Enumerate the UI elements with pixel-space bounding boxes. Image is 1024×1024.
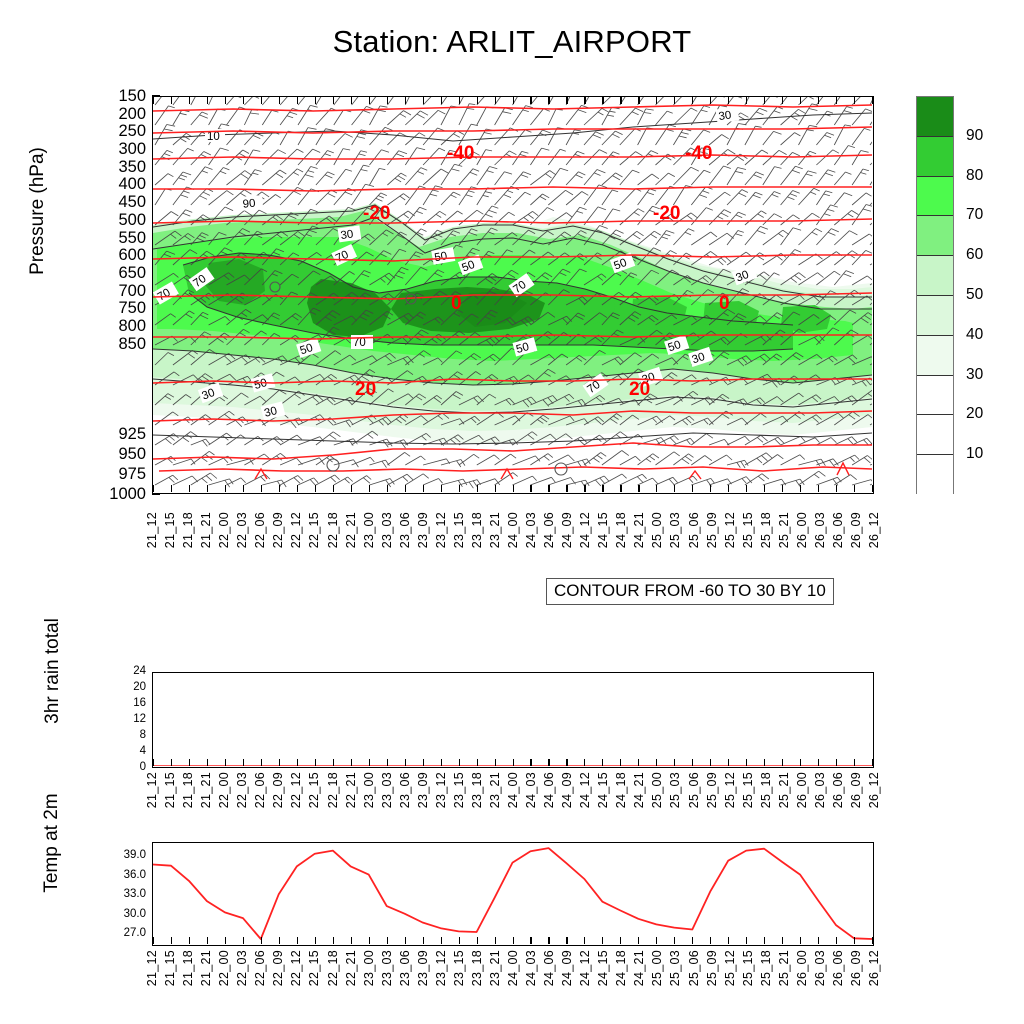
rain-time-tick-25_15: 25_15 xyxy=(741,772,755,808)
rain-time-tick-24_21: 24_21 xyxy=(632,772,646,808)
main-time-tick-24_03: 24_03 xyxy=(524,512,538,548)
rain-tick-4: 4 xyxy=(100,745,146,757)
temp-time-tick-26_09: 26_09 xyxy=(849,950,863,986)
pressure-tick-200: 200 xyxy=(86,105,146,124)
contour-note: CONTOUR FROM -60 TO 30 BY 10 xyxy=(546,578,834,605)
temp-x-tickmark xyxy=(836,937,837,944)
temp-x-tickmark xyxy=(477,937,478,944)
temp-time-tick-21_18: 21_18 xyxy=(181,950,195,986)
temp-tick-36.0: 36.0 xyxy=(96,869,146,881)
rain-x-tickmark xyxy=(495,759,496,766)
colorbar-tick-30: 30 xyxy=(966,366,983,384)
rain-x-tickmark xyxy=(279,759,280,766)
main-time-tick-26_09: 26_09 xyxy=(849,512,863,548)
pressure-tick-550: 550 xyxy=(86,229,146,248)
main-x-tickmark-top xyxy=(297,97,298,104)
colorbar-band-3 xyxy=(917,216,953,256)
svg-text:-20: -20 xyxy=(653,203,680,224)
pressure-tick-700: 700 xyxy=(86,282,146,301)
rain-x-tickmark xyxy=(189,759,190,766)
pressure-tick-500: 500 xyxy=(86,211,146,230)
main-time-tick-24_06: 24_06 xyxy=(542,512,556,548)
colorbar-tick-50: 50 xyxy=(966,286,983,304)
temp-x-tickmark xyxy=(333,937,334,944)
rain-x-tickmark xyxy=(728,759,729,766)
main-time-tick-23_09: 23_09 xyxy=(416,512,430,548)
main-x-tickmark-top xyxy=(710,97,711,104)
temp-time-tick-26_00: 26_00 xyxy=(795,950,809,986)
main-x-tickmark-top xyxy=(495,97,496,104)
main-time-tick-25_21: 25_21 xyxy=(777,512,791,548)
rain-x-tickmark xyxy=(207,759,208,766)
rain-x-tickmark xyxy=(818,759,819,766)
rain-x-tickmark xyxy=(584,759,585,766)
colorbar-band-6 xyxy=(917,336,953,376)
main-time-tick-23_03: 23_03 xyxy=(380,512,394,548)
rain-x-tickmark xyxy=(243,759,244,766)
main-x-tickmark-top xyxy=(782,97,783,104)
temp-time-tick-23_09: 23_09 xyxy=(416,950,430,986)
rain-time-tick-23_06: 23_06 xyxy=(398,772,412,808)
rain-x-tickmark xyxy=(171,759,172,766)
svg-text:20: 20 xyxy=(355,379,376,400)
main-x-tickmark-top xyxy=(279,97,280,104)
rain-time-tick-25_21: 25_21 xyxy=(777,772,791,808)
main-x-tickmark xyxy=(207,485,208,492)
temp-x-tickmark xyxy=(782,937,783,944)
temp-x-tickmark xyxy=(351,937,352,944)
svg-text:90: 90 xyxy=(242,198,256,211)
rain-plot xyxy=(153,673,872,766)
rain-time-tick-23_00: 23_00 xyxy=(362,772,376,808)
colorbar-band-9 xyxy=(917,455,953,495)
main-x-tickmark xyxy=(459,485,460,492)
rain-time-tick-23_21: 23_21 xyxy=(488,772,502,808)
main-x-tickmark xyxy=(872,485,873,492)
rain-x-tickmark xyxy=(746,759,747,766)
main-time-tick-24_18: 24_18 xyxy=(614,512,628,548)
main-x-tickmark xyxy=(566,485,567,492)
temp-x-tickmark xyxy=(315,937,316,944)
main-time-tick-24_12: 24_12 xyxy=(578,512,592,548)
colorbar-band-7 xyxy=(917,376,953,416)
temp-time-tick-24_06: 24_06 xyxy=(542,950,556,986)
temp-time-tick-26_03: 26_03 xyxy=(813,950,827,986)
main-time-tick-21_21: 21_21 xyxy=(199,512,213,548)
rain-time-tick-24_00: 24_00 xyxy=(506,772,520,808)
temp-time-tick-24_03: 24_03 xyxy=(524,950,538,986)
main-x-tickmark-top xyxy=(728,97,729,104)
rain-time-tick-21_21: 21_21 xyxy=(199,772,213,808)
sounding-cross-section-panel[interactable]: 10 30 50 70 70 70 70 70 70 50 50 50 50 5… xyxy=(152,96,874,494)
main-x-tickmark xyxy=(369,485,370,492)
main-time-tick-25_00: 25_00 xyxy=(650,512,664,548)
main-time-tick-25_18: 25_18 xyxy=(759,512,773,548)
colorbar-band-8 xyxy=(917,415,953,455)
pressure-tick-300: 300 xyxy=(86,140,146,159)
temp-time-tick-22_21: 22_21 xyxy=(344,950,358,986)
main-x-tickmark xyxy=(423,485,424,492)
pressure-tick-925: 925 xyxy=(86,425,146,444)
main-time-tick-22_21: 22_21 xyxy=(344,512,358,548)
rain-time-tick-23_15: 23_15 xyxy=(452,772,466,808)
main-x-tickmark xyxy=(548,485,549,492)
main-x-tickmark-top xyxy=(656,97,657,104)
main-time-tick-21_12: 21_12 xyxy=(145,512,159,548)
rain-x-tickmark xyxy=(782,759,783,766)
main-x-tickmark-top xyxy=(854,97,855,104)
colorbar-tick-60: 60 xyxy=(966,246,983,264)
temp-tick-27.0: 27.0 xyxy=(96,927,146,939)
main-x-tickmark xyxy=(153,485,154,492)
temp-x-tickmark xyxy=(225,937,226,944)
temp-x-tickmark xyxy=(405,937,406,944)
main-time-tick-22_00: 22_00 xyxy=(217,512,231,548)
svg-text:0: 0 xyxy=(451,293,462,314)
temp-time-tick-23_12: 23_12 xyxy=(434,950,448,986)
main-x-tickmark-top xyxy=(584,97,585,104)
colorbar-band-0 xyxy=(917,97,953,137)
rain-time-tick-23_09: 23_09 xyxy=(416,772,430,808)
main-x-tickmark xyxy=(530,485,531,492)
rain-x-tickmark xyxy=(297,759,298,766)
temp-x-tickmark xyxy=(261,937,262,944)
main-x-tickmark xyxy=(728,485,729,492)
main-time-tick-25_12: 25_12 xyxy=(723,512,737,548)
temp-time-tick-25_18: 25_18 xyxy=(759,950,773,986)
temp-x-tickmark xyxy=(153,937,154,944)
main-x-tickmark xyxy=(674,485,675,492)
humidity-colorbar[interactable] xyxy=(916,96,954,494)
temp-x-tickmark xyxy=(171,937,172,944)
colorbar-tick-90: 90 xyxy=(966,127,983,145)
svg-text:20: 20 xyxy=(629,379,650,400)
temp-x-tickmark xyxy=(459,937,460,944)
temp-2m-panel[interactable] xyxy=(152,842,874,946)
sounding-plot: 10 30 50 70 70 70 70 70 70 50 50 50 50 5… xyxy=(153,97,872,492)
temp-x-tickmark xyxy=(638,937,639,944)
main-x-tickmark-top xyxy=(261,97,262,104)
main-x-tickmark xyxy=(602,485,603,492)
pressure-tick-975: 975 xyxy=(86,465,146,484)
main-time-tick-24_09: 24_09 xyxy=(560,512,574,548)
main-time-tick-22_03: 22_03 xyxy=(235,512,249,548)
temp-time-tick-24_15: 24_15 xyxy=(596,950,610,986)
temp-time-tick-23_18: 23_18 xyxy=(470,950,484,986)
colorbar-tick-20: 20 xyxy=(966,405,983,423)
colorbar-tick-70: 70 xyxy=(966,206,983,224)
rain-x-tickmark xyxy=(602,759,603,766)
svg-text:50: 50 xyxy=(434,250,449,264)
temp-time-tick-26_12: 26_12 xyxy=(867,950,881,986)
rain-time-tick-23_12: 23_12 xyxy=(434,772,448,808)
main-x-tickmark xyxy=(261,485,262,492)
rain-time-tick-22_15: 22_15 xyxy=(307,772,321,808)
main-x-tickmark xyxy=(387,485,388,492)
rain-time-tick-21_18: 21_18 xyxy=(181,772,195,808)
temp-tick-39.0: 39.0 xyxy=(96,849,146,861)
temp-x-tickmark xyxy=(710,937,711,944)
svg-text:-40: -40 xyxy=(685,143,712,164)
temp-time-tick-22_18: 22_18 xyxy=(326,950,340,986)
rain-time-tick-26_06: 26_06 xyxy=(831,772,845,808)
main-x-tickmark xyxy=(800,485,801,492)
main-x-tickmark xyxy=(513,485,514,492)
main-time-tick-23_00: 23_00 xyxy=(362,512,376,548)
temp-time-tick-22_00: 22_00 xyxy=(217,950,231,986)
rain-time-tick-22_06: 22_06 xyxy=(253,772,267,808)
main-x-tickmark-top xyxy=(872,97,873,104)
temp-time-tick-25_06: 25_06 xyxy=(687,950,701,986)
colorbar-tick-10: 10 xyxy=(966,445,983,463)
main-time-tick-22_06: 22_06 xyxy=(253,512,267,548)
rain-xaxis-labels: 21_1221_1521_1821_2122_0022_0322_0622_09… xyxy=(152,772,874,828)
rain-time-tick-22_00: 22_00 xyxy=(217,772,231,808)
main-time-tick-23_18: 23_18 xyxy=(470,512,484,548)
main-x-tickmark xyxy=(189,485,190,492)
rain-x-tickmark xyxy=(153,759,154,766)
svg-text:0: 0 xyxy=(719,293,730,314)
rain-yaxis-labels: 04812162024 xyxy=(100,672,146,768)
main-time-tick-23_21: 23_21 xyxy=(488,512,502,548)
temp-x-tickmark xyxy=(513,937,514,944)
temp-x-tickmark xyxy=(297,937,298,944)
main-x-tickmark-top xyxy=(477,97,478,104)
main-time-tick-25_03: 25_03 xyxy=(668,512,682,548)
temp-time-tick-23_03: 23_03 xyxy=(380,950,394,986)
main-x-tickmark-top xyxy=(387,97,388,104)
temp-time-tick-25_03: 25_03 xyxy=(668,950,682,986)
rain-x-tickmark xyxy=(459,759,460,766)
main-x-tickmark xyxy=(620,485,621,492)
temp-time-tick-25_12: 25_12 xyxy=(723,950,737,986)
main-x-tickmark-top xyxy=(207,97,208,104)
main-x-tickmark-top xyxy=(405,97,406,104)
main-time-tick-22_09: 22_09 xyxy=(271,512,285,548)
main-x-tickmark-top xyxy=(189,97,190,104)
svg-text:70: 70 xyxy=(353,337,366,349)
rain-time-tick-24_03: 24_03 xyxy=(524,772,538,808)
pressure-tick-450: 450 xyxy=(86,193,146,212)
rain-time-tick-24_15: 24_15 xyxy=(596,772,610,808)
rain-x-tickmark xyxy=(800,759,801,766)
temp-time-tick-24_18: 24_18 xyxy=(614,950,628,986)
colorbar-band-2 xyxy=(917,177,953,217)
temp-x-tickmark xyxy=(207,937,208,944)
main-x-tickmark-top xyxy=(225,97,226,104)
temp-x-tickmark xyxy=(495,937,496,944)
main-x-tickmark xyxy=(495,485,496,492)
main-time-tick-24_00: 24_00 xyxy=(506,512,520,548)
rain-time-tick-25_18: 25_18 xyxy=(759,772,773,808)
main-x-tickmark-top xyxy=(566,97,567,104)
temp-time-tick-21_15: 21_15 xyxy=(163,950,177,986)
rain-time-tick-24_12: 24_12 xyxy=(578,772,592,808)
rain-tick-20: 20 xyxy=(100,681,146,693)
temp-x-tickmark xyxy=(602,937,603,944)
temp-x-tickmark xyxy=(530,937,531,944)
temp-time-tick-22_06: 22_06 xyxy=(253,950,267,986)
main-x-tickmark xyxy=(279,485,280,492)
rain-time-tick-26_03: 26_03 xyxy=(813,772,827,808)
pressure-tick-400: 400 xyxy=(86,175,146,194)
rain-time-tick-21_12: 21_12 xyxy=(145,772,159,808)
rain-time-tick-22_03: 22_03 xyxy=(235,772,249,808)
temp-time-tick-22_12: 22_12 xyxy=(289,950,303,986)
main-time-tick-25_06: 25_06 xyxy=(687,512,701,548)
rain-time-tick-24_18: 24_18 xyxy=(614,772,628,808)
main-time-tick-22_18: 22_18 xyxy=(326,512,340,548)
temp-tick-33.0: 33.0 xyxy=(96,888,146,900)
temp-x-tickmark xyxy=(764,937,765,944)
main-x-tickmark-top xyxy=(746,97,747,104)
main-x-tickmark xyxy=(477,485,478,492)
rain-x-tickmark xyxy=(423,759,424,766)
pressure-tick-750: 750 xyxy=(86,299,146,318)
main-x-tickmark-top xyxy=(351,97,352,104)
main-time-tick-23_15: 23_15 xyxy=(452,512,466,548)
rain-x-tickmark xyxy=(261,759,262,766)
main-x-tickmark-top xyxy=(800,97,801,104)
rain-x-tickmark xyxy=(638,759,639,766)
rain-x-tickmark xyxy=(548,759,549,766)
main-x-tickmark xyxy=(584,485,585,492)
main-xaxis-labels: 21_1221_1521_1821_2122_0022_0322_0622_09… xyxy=(152,512,874,574)
main-x-tickmark xyxy=(782,485,783,492)
svg-text:10: 10 xyxy=(207,131,220,143)
main-x-tickmark-top xyxy=(764,97,765,104)
main-x-tickmark xyxy=(441,485,442,492)
main-time-tick-23_06: 23_06 xyxy=(398,512,412,548)
temp-x-tickmark xyxy=(656,937,657,944)
temp-time-tick-25_00: 25_00 xyxy=(650,950,664,986)
rain-x-tickmark xyxy=(836,759,837,766)
rain-x-tickmark xyxy=(351,759,352,766)
rain-x-tickmark xyxy=(674,759,675,766)
colorbar-band-4 xyxy=(917,256,953,296)
rain-x-tickmark xyxy=(854,759,855,766)
rain-time-tick-22_12: 22_12 xyxy=(289,772,303,808)
temp-time-tick-24_09: 24_09 xyxy=(560,950,574,986)
rain-time-tick-24_06: 24_06 xyxy=(542,772,556,808)
main-x-tickmark xyxy=(692,485,693,492)
temp-x-tickmark xyxy=(692,937,693,944)
main-time-tick-22_15: 22_15 xyxy=(307,512,321,548)
rain-total-panel[interactable] xyxy=(152,672,874,768)
rain-x-tickmark xyxy=(477,759,478,766)
main-x-tickmark xyxy=(405,485,406,492)
main-time-tick-26_06: 26_06 xyxy=(831,512,845,548)
main-x-tickmark-top xyxy=(620,97,621,104)
temp-time-tick-23_21: 23_21 xyxy=(488,950,502,986)
temp-time-tick-22_09: 22_09 xyxy=(271,950,285,986)
rain-time-tick-26_00: 26_00 xyxy=(795,772,809,808)
main-x-tickmark xyxy=(818,485,819,492)
rain-tick-0: 0 xyxy=(100,761,146,773)
rain-x-tickmark xyxy=(441,759,442,766)
rain-x-tickmark xyxy=(566,759,567,766)
temp-x-tickmark xyxy=(746,937,747,944)
main-time-tick-22_12: 22_12 xyxy=(289,512,303,548)
main-x-tickmark xyxy=(836,485,837,492)
temp-x-tickmark xyxy=(728,937,729,944)
temp-x-tickmark xyxy=(423,937,424,944)
main-x-tickmark-top xyxy=(836,97,837,104)
temp-x-tickmark xyxy=(818,937,819,944)
main-time-tick-24_15: 24_15 xyxy=(596,512,610,548)
main-time-tick-26_12: 26_12 xyxy=(867,512,881,548)
main-x-tickmark-top xyxy=(171,97,172,104)
svg-text:-20: -20 xyxy=(363,203,390,224)
pressure-tick-850: 850 xyxy=(86,335,146,354)
rain-x-tickmark xyxy=(764,759,765,766)
temp-time-tick-25_09: 25_09 xyxy=(705,950,719,986)
main-x-tickmark xyxy=(333,485,334,492)
colorbar-tick-40: 40 xyxy=(966,326,983,344)
rain-time-tick-25_09: 25_09 xyxy=(705,772,719,808)
rain-time-tick-25_00: 25_00 xyxy=(650,772,664,808)
temp-time-tick-22_15: 22_15 xyxy=(307,950,321,986)
rain-tick-8: 8 xyxy=(100,729,146,741)
temp-yaxis-title: Temp at 2m xyxy=(41,733,63,953)
main-x-tickmark xyxy=(297,485,298,492)
temp-time-tick-25_15: 25_15 xyxy=(741,950,755,986)
main-x-tickmark xyxy=(764,485,765,492)
main-time-tick-23_12: 23_12 xyxy=(434,512,448,548)
main-x-tickmark-top xyxy=(548,97,549,104)
pressure-tick-150: 150 xyxy=(86,87,146,106)
main-x-tickmark-top xyxy=(513,97,514,104)
temp-time-tick-26_06: 26_06 xyxy=(831,950,845,986)
pressure-tick-1000: 1000 xyxy=(86,485,146,504)
rain-x-tickmark xyxy=(333,759,334,766)
pressure-tick-350: 350 xyxy=(86,158,146,177)
main-x-tickmark-top xyxy=(243,97,244,104)
pressure-tick-950: 950 xyxy=(86,445,146,464)
temp-x-tickmark xyxy=(369,937,370,944)
main-x-tickmark-top xyxy=(369,97,370,104)
main-x-tickmark xyxy=(710,485,711,492)
temp-x-tickmark xyxy=(548,937,549,944)
main-time-tick-21_15: 21_15 xyxy=(163,512,177,548)
rain-time-tick-25_12: 25_12 xyxy=(723,772,737,808)
main-x-tickmark xyxy=(243,485,244,492)
temp-time-tick-24_12: 24_12 xyxy=(578,950,592,986)
main-x-tickmark-top xyxy=(423,97,424,104)
main-x-tickmark-top xyxy=(602,97,603,104)
main-time-tick-25_09: 25_09 xyxy=(705,512,719,548)
main-x-tickmark xyxy=(171,485,172,492)
temp-xaxis-labels: 21_1221_1521_1821_2122_0022_0322_0622_09… xyxy=(152,950,874,1006)
temp-x-tickmark xyxy=(566,937,567,944)
rain-tick-16: 16 xyxy=(100,697,146,709)
main-x-tickmark-top xyxy=(315,97,316,104)
temp-x-tickmark xyxy=(872,937,873,944)
pressure-tick-650: 650 xyxy=(86,264,146,283)
main-time-tick-24_21: 24_21 xyxy=(632,512,646,548)
rain-x-tickmark xyxy=(872,759,873,766)
temp-x-tickmark xyxy=(620,937,621,944)
temp-x-tickmark xyxy=(441,937,442,944)
rain-x-tickmark xyxy=(710,759,711,766)
rain-x-tickmark xyxy=(405,759,406,766)
temp-x-tickmark xyxy=(243,937,244,944)
temp-time-tick-24_00: 24_00 xyxy=(506,950,520,986)
rain-x-tickmark xyxy=(692,759,693,766)
temp-x-tickmark xyxy=(279,937,280,944)
rain-time-tick-25_03: 25_03 xyxy=(668,772,682,808)
rain-x-tickmark xyxy=(225,759,226,766)
